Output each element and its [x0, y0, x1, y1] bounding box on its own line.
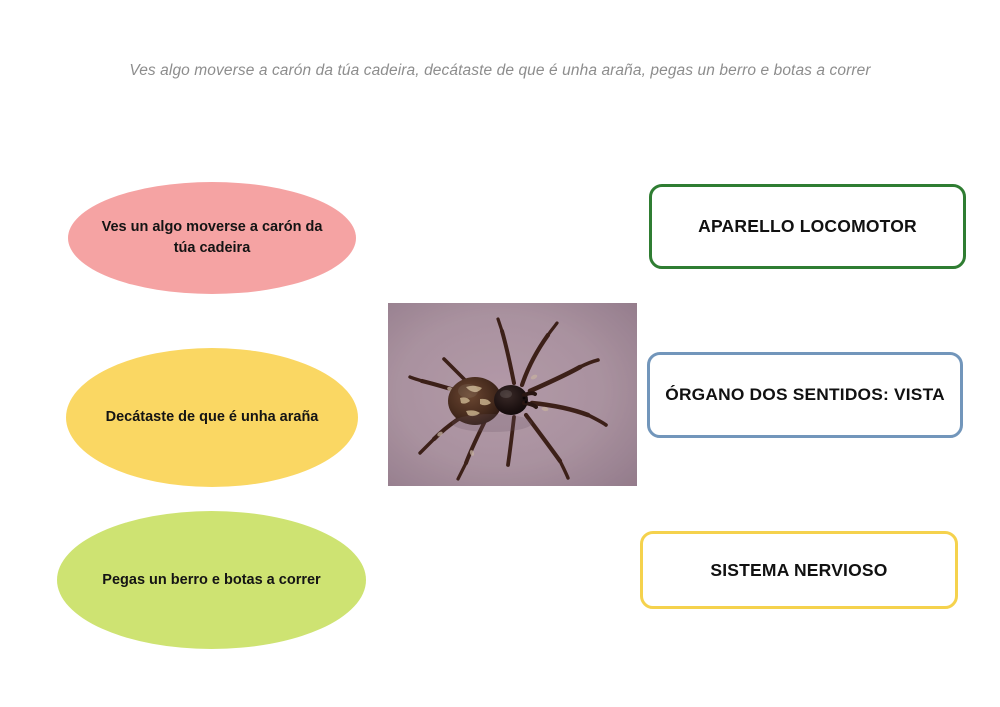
activity-canvas: Ves algo moverse a carón da túa cadeira,…	[0, 0, 1000, 707]
answer-option-sistema-nervioso[interactable]: SISTEMA NERVIOSO	[640, 531, 958, 609]
answer-option-3-label: SISTEMA NERVIOSO	[710, 560, 887, 581]
sequence-step-1-label: Ves un algo moverse a carón da túa cadei…	[68, 217, 356, 259]
answer-option-2-label: ÓRGANO DOS SENTIDOS: VISTA	[665, 385, 945, 405]
sequence-step-2[interactable]: Decátaste de que é unha araña	[66, 348, 358, 487]
spider-photo-illustration	[388, 303, 637, 486]
answer-option-aparello-locomotor[interactable]: APARELLO LOCOMOTOR	[649, 184, 966, 269]
page-title: Ves algo moverse a carón da túa cadeira,…	[0, 60, 1000, 82]
spider-photo	[388, 303, 637, 486]
answer-option-1-label: APARELLO LOCOMOTOR	[698, 216, 917, 237]
sequence-step-3[interactable]: Pegas un berro e botas a correr	[57, 511, 366, 649]
sequence-step-2-label: Decátaste de que é unha araña	[80, 407, 345, 428]
sequence-step-1[interactable]: Ves un algo moverse a carón da túa cadei…	[68, 182, 356, 294]
sequence-step-3-label: Pegas un berro e botas a correr	[76, 570, 346, 591]
answer-option-organo-dos-sentidos-vista[interactable]: ÓRGANO DOS SENTIDOS: VISTA	[647, 352, 963, 438]
